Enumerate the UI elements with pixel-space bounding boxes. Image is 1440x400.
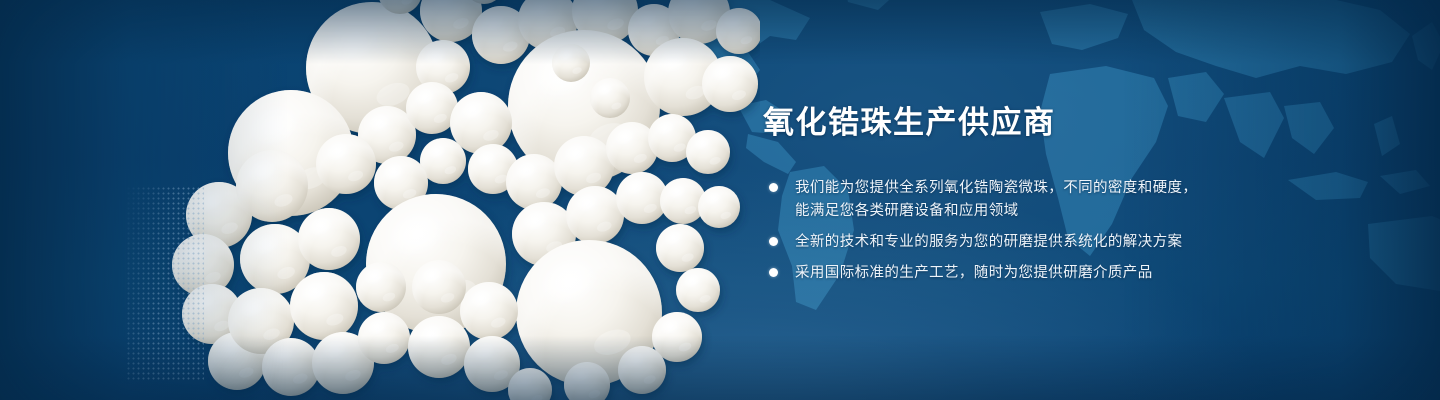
list-item-label: 我们能为您提供全系列氧化锆陶瓷微珠，不同的密度和硬度，: [795, 177, 1263, 199]
bullet-dot-icon: [769, 268, 778, 277]
banner-content: 氧化锆珠生产供应商 我们能为您提供全系列氧化锆陶瓷微珠，不同的密度和硬度， 能满…: [763, 104, 1263, 284]
list-item: 全新的技术和专业的服务为您的研磨提供系统化的解决方案: [767, 231, 1263, 253]
list-item-label: 全新的技术和专业的服务为您的研磨提供系统化的解决方案: [795, 231, 1263, 253]
feature-list: 我们能为您提供全系列氧化锆陶瓷微珠，不同的密度和硬度， 能满足您各类研磨设备和应…: [767, 177, 1263, 284]
bullet-dot-icon: [769, 183, 778, 192]
bullet-dot-icon: [769, 237, 778, 246]
page-title: 氧化锆珠生产供应商: [763, 104, 1263, 143]
hero-banner: 氧化锆珠生产供应商 我们能为您提供全系列氧化锆陶瓷微珠，不同的密度和硬度， 能满…: [0, 0, 1440, 400]
list-item: 采用国际标准的生产工艺，随时为您提供研磨介质产品: [767, 262, 1263, 284]
list-item: 我们能为您提供全系列氧化锆陶瓷微珠，不同的密度和硬度， 能满足您各类研磨设备和应…: [767, 177, 1263, 222]
list-item-label-continued: 能满足您各类研磨设备和应用领域: [795, 200, 1263, 222]
list-item-label: 采用国际标准的生产工艺，随时为您提供研磨介质产品: [795, 262, 1263, 284]
